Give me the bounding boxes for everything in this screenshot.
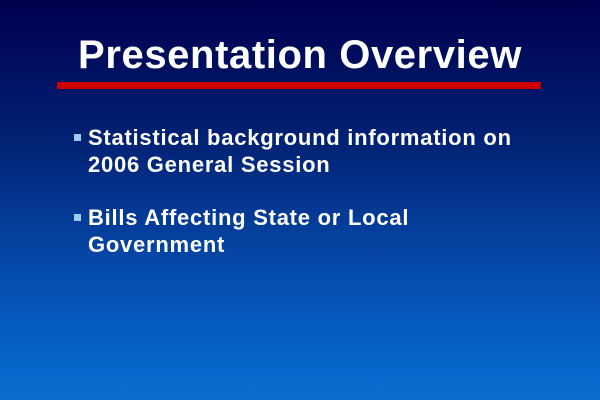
slide-title-block: Presentation Overview — [0, 33, 600, 77]
square-bullet-icon — [74, 134, 81, 141]
bullet-list: Statistical background information on 20… — [71, 124, 571, 258]
square-bullet-icon — [74, 214, 81, 221]
list-item: Statistical background information on 20… — [71, 124, 571, 178]
title-underline-rule — [57, 82, 541, 89]
presentation-slide: Presentation Overview Statistical backgr… — [0, 0, 600, 400]
list-item-label: Statistical background information on 20… — [88, 124, 540, 178]
page-title: Presentation Overview — [78, 33, 522, 77]
list-item-label: Bills Affecting State or Local Governmen… — [88, 204, 540, 258]
list-item: Bills Affecting State or Local Governmen… — [71, 204, 571, 258]
